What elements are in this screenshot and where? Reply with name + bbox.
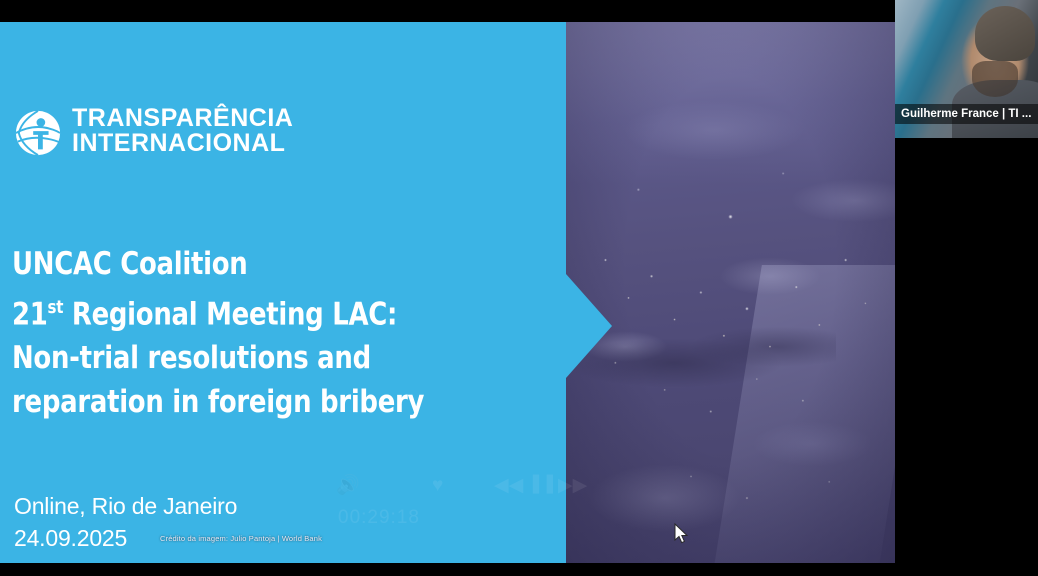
image-credit: Crédito da imagem: Julio Pantoja | World… (160, 534, 322, 543)
webcam-person-beard (972, 61, 1018, 97)
shared-slide[interactable]: TRANSPARÊNCIA INTERNACIONAL Brasil UNCAC… (0, 22, 895, 563)
transparency-international-logo: TRANSPARÊNCIA INTERNACIONAL (14, 106, 293, 157)
title-line-2-pre: 21 (12, 296, 48, 332)
mouse-cursor (674, 523, 690, 545)
photo-sky-layer (566, 22, 895, 184)
photo-treeline-layer (566, 282, 836, 444)
logo-line-2: INTERNACIONAL (72, 131, 293, 156)
logo-line-1: TRANSPARÊNCIA (72, 106, 293, 131)
title-line-2: 21st Regional Meeting LAC: (12, 286, 424, 336)
meeting-screenshare-view: TRANSPARÊNCIA INTERNACIONAL Brasil UNCAC… (0, 0, 1038, 576)
webcam-participant-label: Guilherme France | TI ... (895, 104, 1038, 124)
transparency-international-globe-icon (14, 109, 62, 157)
slide-location: Online, Rio de Janeiro (14, 490, 237, 522)
webcam-person-hair (975, 6, 1035, 61)
photo-vignette-layer (566, 22, 895, 563)
slide-title: UNCAC Coalition 21st Regional Meeting LA… (12, 242, 455, 424)
title-line-3: Non-trial resolutions and (12, 336, 424, 380)
title-line-2-post: Regional Meeting LAC: (63, 296, 397, 332)
title-line-2-ordinal-suffix: st (48, 297, 64, 318)
title-line-1: UNCAC Coalition (12, 242, 424, 286)
slide-footer: Online, Rio de Janeiro 24.09.2025 (14, 490, 237, 554)
webcam-participant-tile[interactable]: Guilherme France | TI ... (895, 0, 1038, 138)
photo-city-lights-layer (566, 22, 895, 563)
rio-de-janeiro-cityscape-photo (566, 22, 895, 563)
title-line-4: reparation in foreign bribery (12, 380, 424, 424)
photo-river-layer (712, 265, 895, 563)
